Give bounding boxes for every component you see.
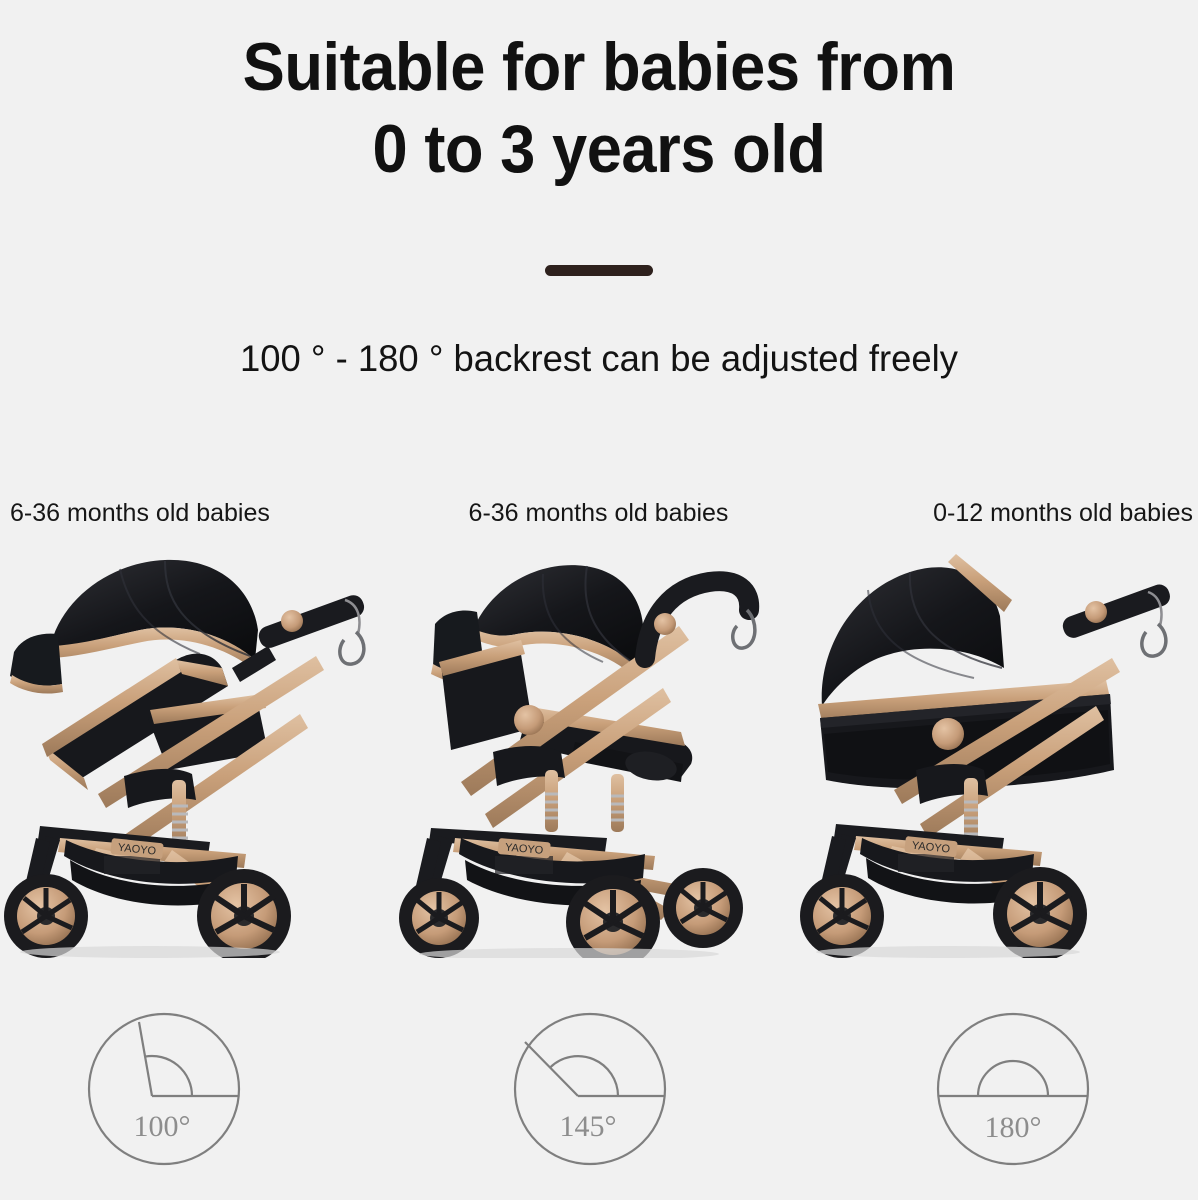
- angle-diagram-145-icon: 145°: [512, 1011, 668, 1167]
- angle-label-100: 100°: [134, 1110, 191, 1143]
- stroller-image-3: YAOYO: [798, 538, 1197, 958]
- angle-label-145: 145°: [560, 1110, 617, 1143]
- infographic-page: Suitable for babies from 0 to 3 years ol…: [0, 0, 1198, 1200]
- angle-diagrams: 100° 145° 180°: [0, 1005, 1198, 1185]
- product-configurations: 6-36 months old babies: [0, 498, 1198, 968]
- divider-container: [0, 263, 1198, 281]
- angle-diagram-180-icon: 180°: [935, 1011, 1091, 1167]
- angle-label-180: 180°: [985, 1111, 1042, 1144]
- stroller-bassinet-svg: YAOYO: [798, 538, 1197, 958]
- product-column-3: 0-12 months old babies: [798, 498, 1197, 968]
- page-title-line-2: 0 to 3 years old: [42, 108, 1156, 190]
- angle-cell-180: 180°: [798, 1005, 1197, 1185]
- product-label-3: 0-12 months old babies: [798, 498, 1197, 528]
- page-title: Suitable for babies from 0 to 3 years ol…: [0, 26, 1198, 190]
- angle-diagram-100-icon: 100°: [86, 1011, 242, 1167]
- product-label-1: 6-36 months old babies: [0, 498, 399, 528]
- section-divider: [545, 265, 653, 276]
- stroller-image-1: YAOYO: [0, 538, 399, 958]
- product-column-2: 6-36 months old babies: [399, 498, 798, 968]
- stroller-reclined-svg: YAOYO: [399, 538, 798, 958]
- stroller-upright-svg: YAOYO: [0, 538, 399, 958]
- page-subtitle: 100 ° - 180 ° backrest can be adjusted f…: [9, 336, 1189, 382]
- product-column-1: 6-36 months old babies: [0, 498, 399, 968]
- page-title-line-1: Suitable for babies from: [42, 26, 1156, 108]
- angle-cell-100: 100°: [0, 1005, 399, 1185]
- product-label-2: 6-36 months old babies: [399, 498, 798, 528]
- stroller-image-2: YAOYO: [399, 538, 798, 958]
- angle-cell-145: 145°: [399, 1005, 798, 1185]
